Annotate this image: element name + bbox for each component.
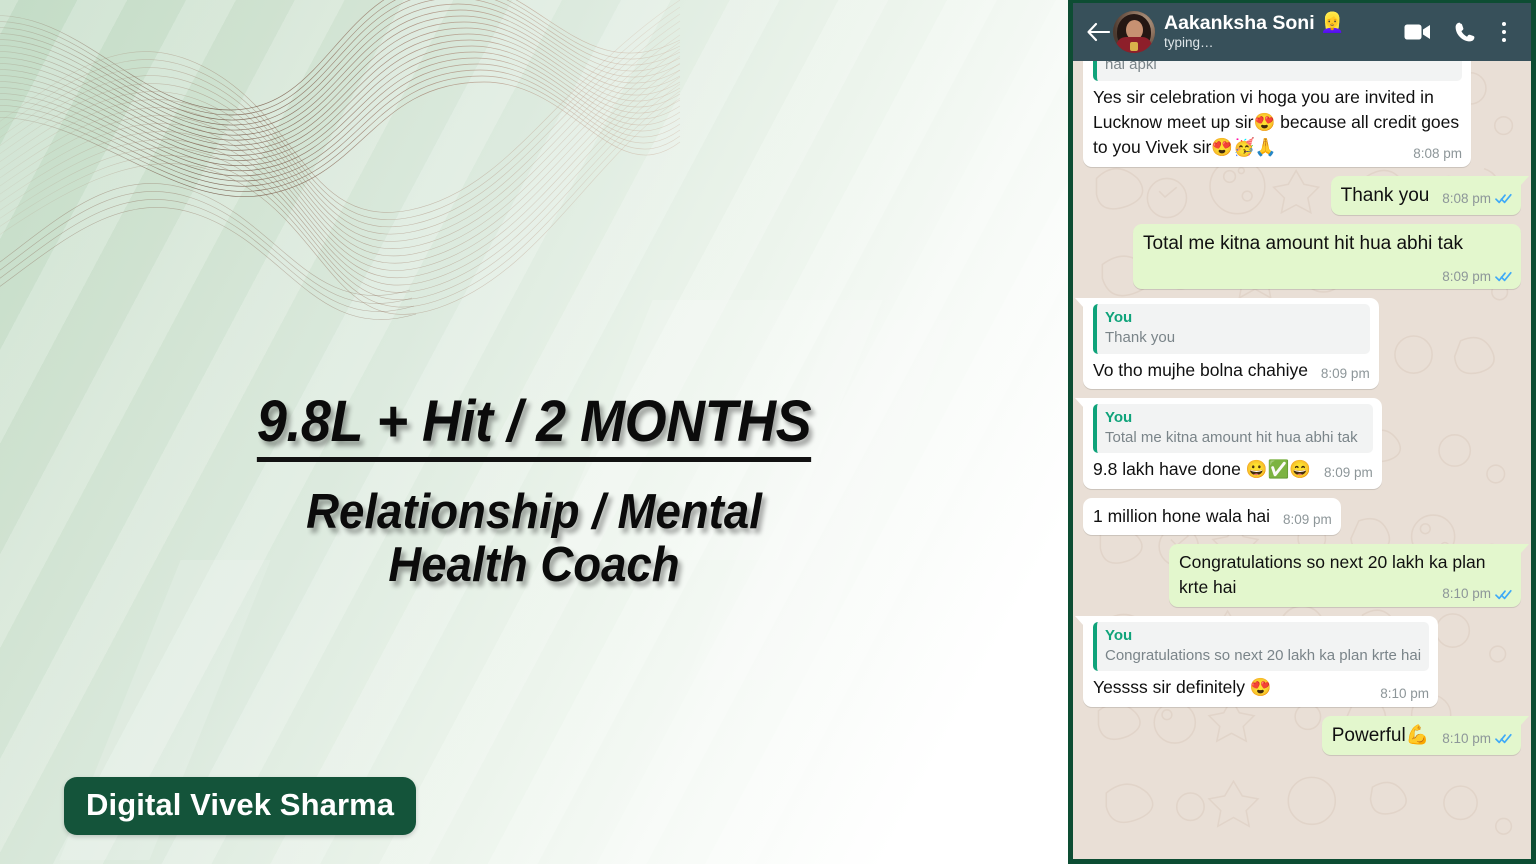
message-meta: 8:08 pm xyxy=(1413,144,1462,164)
message-bubble-outgoing[interactable]: Powerful💪 8:10 pm xyxy=(1322,716,1521,756)
quote-text: Congratulations so next 20 lakh ka plan … xyxy=(1105,646,1421,666)
message-bubble-incoming[interactable]: You Total me kitna amount hit hua abhi t… xyxy=(1083,398,1382,489)
message-time: 8:09 pm xyxy=(1283,510,1332,530)
read-receipt-icon xyxy=(1495,193,1512,204)
message-text: 1 million hone wala hai xyxy=(1093,506,1270,526)
message-meta: 8:10 pm xyxy=(1442,584,1512,604)
message-meta: 8:09 pm xyxy=(1283,510,1332,530)
contact-status: typing… xyxy=(1164,35,1393,51)
message-meta: 8:09 pm xyxy=(1324,463,1373,483)
message-row: Congratulations so next 20 lakh ka plan … xyxy=(1083,544,1521,607)
message-time: 8:10 pm xyxy=(1442,584,1491,604)
promo-copy: 9.8L + Hit / 2 MONTHS Relationship / Men… xyxy=(0,392,1068,592)
overflow-menu-icon[interactable] xyxy=(1489,22,1519,43)
chat-scroll-area[interactable]: hai apki Yes sir celebration vi hoga you… xyxy=(1073,61,1531,864)
contact-info[interactable]: Aakanksha Soni 👱‍♀️ typing… xyxy=(1164,13,1393,52)
message-text: Powerful💪 xyxy=(1332,725,1430,746)
message-text: Yessss sir definitely 😍 xyxy=(1093,677,1272,697)
message-time: 8:10 pm xyxy=(1380,684,1429,704)
abstract-wave-artwork xyxy=(0,0,700,320)
message-row: 1 million hone wala hai 8:09 pm xyxy=(1083,498,1521,535)
read-receipt-icon xyxy=(1495,271,1512,282)
message-text: Total me kitna amount hit hua abhi tak xyxy=(1143,233,1463,254)
message-text: Congratulations so next 20 lakh ka plan … xyxy=(1179,552,1485,597)
header-actions xyxy=(1393,21,1519,43)
back-arrow-icon[interactable] xyxy=(1083,22,1113,42)
message-bubble-incoming[interactable]: hai apki Yes sir celebration vi hoga you… xyxy=(1083,61,1471,167)
quoted-message[interactable]: You Thank you xyxy=(1093,304,1370,353)
message-row: You Congratulations so next 20 lakh ka p… xyxy=(1083,616,1521,707)
quoted-message[interactable]: hai apki xyxy=(1093,61,1462,81)
read-receipt-icon xyxy=(1495,733,1512,744)
message-bubble-outgoing[interactable]: Total me kitna amount hit hua abhi tak 8… xyxy=(1133,224,1521,289)
quote-text: hai apki xyxy=(1105,61,1454,75)
promo-subline-2: Health Coach xyxy=(112,539,956,592)
chat-header: Aakanksha Soni 👱‍♀️ typing… xyxy=(1073,3,1531,61)
message-time: 8:09 pm xyxy=(1321,364,1370,384)
promo-subline-1: Relationship / Mental xyxy=(112,486,956,539)
message-row: Thank you 8:08 pm xyxy=(1083,176,1521,216)
message-time: 8:09 pm xyxy=(1324,463,1373,483)
quote-text: Total me kitna amount hit hua abhi tak xyxy=(1105,428,1365,448)
message-meta: 8:09 pm xyxy=(1321,364,1370,384)
voice-call-icon[interactable] xyxy=(1441,21,1489,43)
promo-panel: 9.8L + Hit / 2 MONTHS Relationship / Men… xyxy=(0,0,1068,864)
message-time: 8:08 pm xyxy=(1442,189,1491,209)
message-row: Total me kitna amount hit hua abhi tak 8… xyxy=(1083,224,1521,289)
message-meta: 8:09 pm xyxy=(1442,267,1512,287)
message-text: 9.8 lakh have done 😀✅😄 xyxy=(1093,459,1311,479)
read-receipt-icon xyxy=(1495,589,1512,600)
message-bubble-incoming[interactable]: You Congratulations so next 20 lakh ka p… xyxy=(1083,616,1438,707)
contact-name: Aakanksha Soni 👱‍♀️ xyxy=(1164,13,1393,34)
message-row: hai apki Yes sir celebration vi hoga you… xyxy=(1083,65,1521,167)
message-list: hai apki Yes sir celebration vi hoga you… xyxy=(1083,61,1521,755)
message-bubble-outgoing[interactable]: Congratulations so next 20 lakh ka plan … xyxy=(1169,544,1521,607)
message-text: Vo tho mujhe bolna chahiye xyxy=(1093,360,1308,380)
message-row: You Total me kitna amount hit hua abhi t… xyxy=(1083,398,1521,489)
quote-author: You xyxy=(1105,309,1362,328)
message-text: Thank you xyxy=(1341,185,1430,206)
quote-text: Thank you xyxy=(1105,328,1362,348)
quoted-message[interactable]: You Congratulations so next 20 lakh ka p… xyxy=(1093,622,1429,671)
message-bubble-outgoing[interactable]: Thank you 8:08 pm xyxy=(1331,176,1521,216)
message-row: Powerful💪 8:10 pm xyxy=(1083,716,1521,756)
quote-author: You xyxy=(1105,627,1421,646)
message-time: 8:08 pm xyxy=(1413,144,1462,164)
message-time: 8:10 pm xyxy=(1442,729,1491,749)
promo-subline: Relationship / Mental Health Coach xyxy=(112,486,956,592)
message-text: Yes sir celebration vi hoga you are invi… xyxy=(1093,87,1459,158)
message-time: 8:09 pm xyxy=(1442,267,1491,287)
whatsapp-screenshot: Aakanksha Soni 👱‍♀️ typing… xyxy=(1068,0,1536,864)
brand-badge: Digital Vivek Sharma xyxy=(64,777,416,835)
quote-author: You xyxy=(1105,409,1365,428)
quoted-message[interactable]: You Total me kitna amount hit hua abhi t… xyxy=(1093,404,1373,453)
message-meta: 8:10 pm xyxy=(1380,684,1429,704)
message-meta: 8:08 pm xyxy=(1442,189,1512,209)
video-call-icon[interactable] xyxy=(1393,23,1441,41)
message-row: You Thank you Vo tho mujhe bolna chahiye… xyxy=(1083,298,1521,389)
contact-avatar[interactable] xyxy=(1113,11,1155,53)
promo-headline: 9.8L + Hit / 2 MONTHS xyxy=(257,392,811,462)
message-meta: 8:10 pm xyxy=(1442,729,1512,749)
message-bubble-incoming[interactable]: 1 million hone wala hai 8:09 pm xyxy=(1083,498,1341,535)
message-bubble-incoming[interactable]: You Thank you Vo tho mujhe bolna chahiye… xyxy=(1083,298,1379,389)
